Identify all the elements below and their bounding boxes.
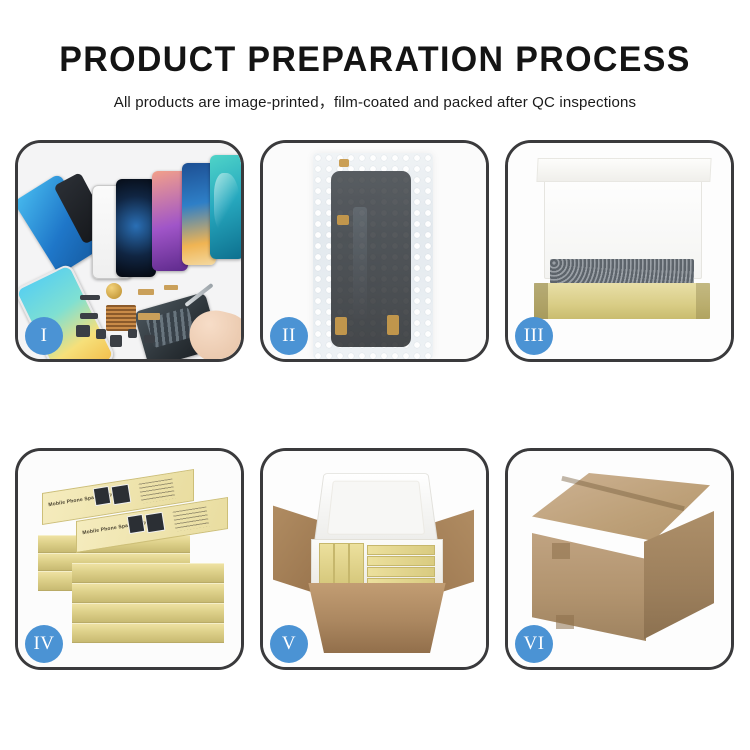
yellow-box-base-icon <box>534 283 710 319</box>
small-part-icon <box>76 325 90 337</box>
flex-cable-icon <box>138 313 160 320</box>
carton-body-icon <box>299 583 455 653</box>
yellow-box-icon <box>367 567 435 577</box>
process-step-panel-6[interactable]: VI <box>505 448 734 670</box>
yellow-box-icon <box>349 543 364 585</box>
yellow-box-icon <box>367 545 435 555</box>
step-badge-2: II <box>270 317 308 355</box>
small-part-icon <box>128 329 137 338</box>
step-badge-4: IV <box>25 625 63 663</box>
circuit-board-icon <box>106 305 136 331</box>
step-badge-5: V <box>270 625 308 663</box>
box-label-thumbnail <box>127 514 146 534</box>
flex-cable-icon <box>138 289 154 295</box>
process-step-panel-4[interactable]: Mobile Phone Spare Parts Mobile Phone Sp… <box>15 448 244 670</box>
page-title: PRODUCT PREPARATION PROCESS <box>11 0 739 79</box>
process-step-panel-3[interactable]: III <box>505 140 734 362</box>
speaker-part-icon <box>106 283 122 299</box>
small-part-icon <box>144 335 155 343</box>
gold-tab-icon <box>337 215 349 225</box>
page-subtitle: All products are image-printed，film-coat… <box>4 79 747 112</box>
bubble-wrap-bag-icon <box>313 153 433 359</box>
yellow-box-icon <box>367 556 435 566</box>
step-badge-1: I <box>25 317 63 355</box>
gold-tab-icon <box>335 317 347 335</box>
process-step-grid: I II III <box>15 140 735 670</box>
small-part-icon <box>96 329 106 339</box>
box-label-thumbnail <box>145 512 166 534</box>
yellow-box-icon <box>334 543 349 585</box>
box-label-thumbnail <box>111 484 132 506</box>
carton-tape-icon <box>556 615 574 629</box>
small-part-icon <box>80 313 98 319</box>
step-badge-3: III <box>515 317 553 355</box>
process-step-panel-2[interactable]: II <box>260 140 489 362</box>
carton-tape-icon <box>552 543 570 559</box>
phone-screen-icon <box>210 155 241 259</box>
page-header: PRODUCT PREPARATION PROCESS All products… <box>0 0 750 112</box>
yellow-box-icon <box>319 543 334 585</box>
process-step-panel-5[interactable]: V <box>260 448 489 670</box>
gold-tab-icon <box>339 159 349 167</box>
connector-part-icon <box>80 295 100 300</box>
step-badge-6: VI <box>515 625 553 663</box>
small-part-icon <box>110 335 122 347</box>
process-step-panel-1[interactable]: I <box>15 140 244 362</box>
phone-screen-icon <box>116 179 156 277</box>
box-stack-icon: Mobile Phone Spare Parts Mobile Phone Sp… <box>32 473 238 653</box>
box-label-thumbnail <box>93 486 112 506</box>
gold-tab-icon <box>387 315 399 335</box>
foam-lid-icon <box>314 473 439 545</box>
flex-cable-icon <box>164 285 178 290</box>
